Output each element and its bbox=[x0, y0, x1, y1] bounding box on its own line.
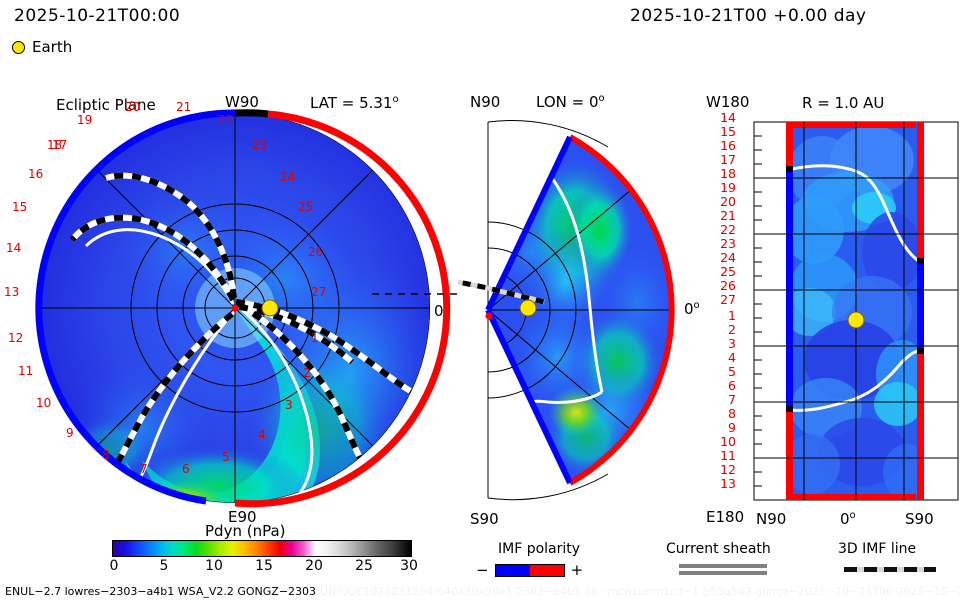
y-tick: 25 bbox=[706, 264, 736, 279]
rim-tick: 13 bbox=[4, 285, 19, 299]
synoptic-top-label: W180 bbox=[706, 93, 749, 111]
rim-tick: 25 bbox=[298, 200, 313, 214]
imf-positive-swatch bbox=[530, 565, 564, 576]
synoptic-title: R = 1.0 AU bbox=[802, 94, 884, 112]
rim-tick: 12 bbox=[8, 331, 23, 345]
y-tick: 13 bbox=[706, 476, 736, 491]
meridional-top-label: N90 bbox=[470, 93, 500, 111]
colorbar-tick: 5 bbox=[160, 558, 169, 574]
y-tick: 12 bbox=[706, 462, 736, 477]
imf-plus-sign: + bbox=[571, 561, 584, 579]
colorbar-tick: 15 bbox=[255, 558, 273, 574]
y-tick: 15 bbox=[706, 124, 736, 139]
synoptic-xtick-zero: 0o bbox=[840, 510, 856, 528]
colorbar-tick: 30 bbox=[400, 558, 418, 574]
rim-tick: 24 bbox=[280, 170, 295, 184]
rim-tick: 6 bbox=[182, 462, 190, 476]
rim-tick: 11 bbox=[18, 364, 33, 378]
rim-tick: 15 bbox=[12, 200, 27, 214]
header-epoch: 2025-10-21T00 +0.00 day bbox=[630, 6, 866, 26]
rim-tick: 3 bbox=[285, 398, 293, 412]
y-tick: 10 bbox=[706, 434, 736, 449]
imf-line-3d-title: 3D IMF line bbox=[838, 541, 936, 557]
current-sheath-title: Current sheath bbox=[666, 541, 771, 557]
imf-negative-swatch bbox=[496, 565, 530, 576]
y-tick: 1 bbox=[706, 308, 736, 323]
colorbar-title: Pdyn (nPa) bbox=[205, 522, 286, 540]
rim-tick: 8 bbox=[102, 448, 110, 462]
y-tick: 16 bbox=[706, 138, 736, 153]
meridional-lon-label: LON = 0o bbox=[536, 93, 605, 111]
rim-tick: 1 bbox=[311, 331, 319, 345]
y-tick: 4 bbox=[706, 350, 736, 365]
rim-tick: 21 bbox=[176, 100, 191, 114]
ecliptic-plane-plot bbox=[20, 100, 460, 520]
synoptic-xtick-degree: o bbox=[850, 510, 856, 521]
lon-degree-symbol: o bbox=[599, 93, 605, 104]
y-tick: 23 bbox=[706, 236, 736, 251]
colorbar[interactable]: 0 5 10 15 20 25 30 bbox=[112, 540, 412, 576]
y-tick: 11 bbox=[706, 448, 736, 463]
y-tick: 26 bbox=[706, 278, 736, 293]
rim-tick: 16 bbox=[28, 167, 43, 181]
y-tick: 22 bbox=[706, 222, 736, 237]
synoptic-map-plot bbox=[752, 112, 960, 510]
rim-tick: 27 bbox=[311, 285, 326, 299]
header-date: 2025-10-21T00:00 bbox=[14, 6, 180, 26]
earth-legend-label: Earth bbox=[32, 38, 72, 56]
imf-minus-sign: − bbox=[476, 561, 489, 579]
rim-tick: 22 bbox=[218, 113, 233, 127]
y-tick: 19 bbox=[706, 180, 736, 195]
rim-tick: 2 bbox=[303, 366, 311, 380]
y-tick: 27 bbox=[706, 292, 736, 307]
colorbar-tick: 20 bbox=[305, 558, 323, 574]
rim-tick: 19 bbox=[77, 113, 92, 127]
current-sheath-swatch-bottom bbox=[679, 571, 767, 575]
y-tick: 7 bbox=[706, 392, 736, 407]
y-tick: 14 bbox=[706, 110, 736, 125]
synoptic-xtick-zero-value: 0 bbox=[840, 510, 850, 528]
rim-tick: 17 bbox=[52, 138, 67, 152]
current-sheath-legend: Current sheath bbox=[666, 541, 771, 575]
footer-watermark: UNIQUE1021231254/640x30x90x1.2303−a4b1.1… bbox=[320, 585, 960, 598]
y-tick: 17 bbox=[706, 152, 736, 167]
rim-tick: 5 bbox=[222, 450, 230, 464]
y-tick: 5 bbox=[706, 364, 736, 379]
synoptic-xtick-s90: S90 bbox=[905, 510, 934, 528]
rim-tick: 7 bbox=[140, 462, 148, 476]
rim-tick: 9 bbox=[66, 426, 74, 440]
colorbar-ticks: 0 5 10 15 20 25 30 bbox=[112, 558, 412, 576]
colorbar-tick: 0 bbox=[110, 558, 119, 574]
y-tick: 9 bbox=[706, 420, 736, 435]
imf-polarity-title: IMF polarity bbox=[498, 541, 583, 557]
y-tick: 2 bbox=[706, 322, 736, 337]
y-tick: 21 bbox=[706, 208, 736, 223]
imf-line-3d-legend: 3D IMF line bbox=[838, 541, 936, 572]
current-sheath-swatch-top bbox=[679, 564, 767, 568]
rim-tick: 26 bbox=[308, 245, 323, 259]
rim-tick: 10 bbox=[36, 396, 51, 410]
rim-tick: 4 bbox=[258, 428, 266, 442]
earth-marker-icon bbox=[12, 41, 25, 54]
colorbar-tick: 10 bbox=[205, 558, 223, 574]
y-tick: 8 bbox=[706, 406, 736, 421]
y-tick: 6 bbox=[706, 378, 736, 393]
colorbar-gradient bbox=[112, 540, 412, 557]
imf-polarity-legend: IMF polarity − + bbox=[498, 541, 583, 579]
rim-tick: 23 bbox=[252, 138, 267, 152]
earth-legend: Earth bbox=[12, 38, 72, 56]
lon-value: LON = 0 bbox=[536, 93, 599, 111]
rim-tick: 20 bbox=[125, 100, 140, 114]
synoptic-bottom-label: E180 bbox=[706, 508, 744, 526]
synoptic-xtick-n90: N90 bbox=[756, 510, 786, 528]
y-tick: 20 bbox=[706, 194, 736, 209]
colorbar-tick: 25 bbox=[355, 558, 373, 574]
rim-tick: 14 bbox=[6, 241, 21, 255]
y-tick: 24 bbox=[706, 250, 736, 265]
meridional-plane-plot bbox=[458, 112, 698, 512]
y-tick: 3 bbox=[706, 336, 736, 351]
meridional-bottom-label: S90 bbox=[470, 510, 499, 528]
y-tick: 18 bbox=[706, 166, 736, 181]
imf-line-3d-swatch bbox=[844, 567, 936, 572]
footer-model-info: ENUL−2.7 lowres−2303−a4b1 WSA_V2.2 GONGZ… bbox=[5, 585, 316, 598]
